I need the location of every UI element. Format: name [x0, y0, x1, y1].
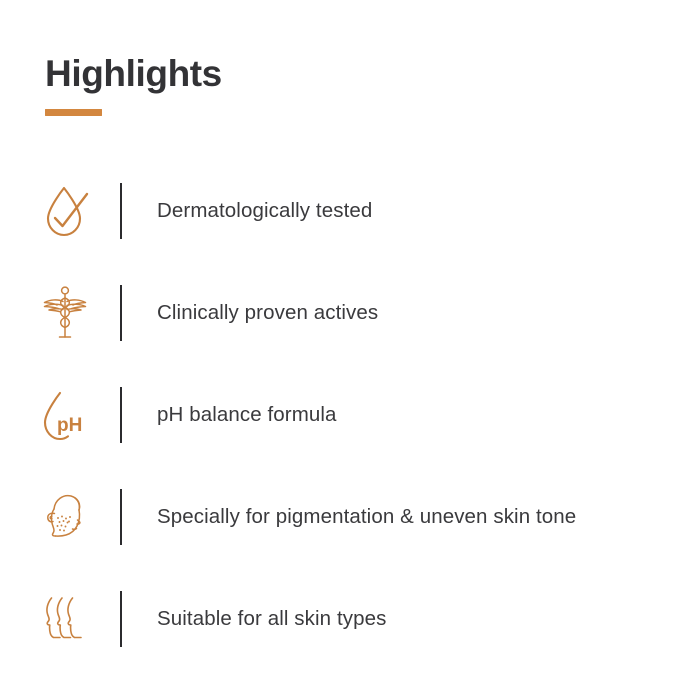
list-item-label: pH balance formula	[122, 400, 337, 430]
heading-block: Highlights	[45, 52, 222, 116]
droplet-ph-icon-text: pH	[57, 415, 82, 436]
title-underline-rule	[45, 109, 102, 116]
highlights-list: Dermatologically tested	[0, 160, 700, 670]
three-faces-icon	[0, 589, 120, 649]
list-item: pH pH balance formula	[0, 364, 700, 466]
list-item: Clinically proven actives	[0, 262, 700, 364]
highlights-panel: Highlights Dermatologically tested	[0, 0, 700, 700]
list-item: Dermatologically tested	[0, 160, 700, 262]
face-pigmentation-icon	[0, 487, 120, 547]
caduceus-icon	[0, 283, 120, 343]
list-item: Specially for pigmentation & uneven skin…	[0, 466, 700, 568]
page-title: Highlights	[45, 52, 222, 96]
droplet-check-icon	[0, 181, 120, 241]
list-item-label: Suitable for all skin types	[122, 604, 386, 634]
droplet-ph-icon: pH	[0, 385, 120, 445]
list-item-label: Dermatologically tested	[122, 196, 372, 226]
list-item-label: Specially for pigmentation & uneven skin…	[122, 502, 576, 532]
list-item: Suitable for all skin types	[0, 568, 700, 670]
list-item-label: Clinically proven actives	[122, 298, 378, 328]
